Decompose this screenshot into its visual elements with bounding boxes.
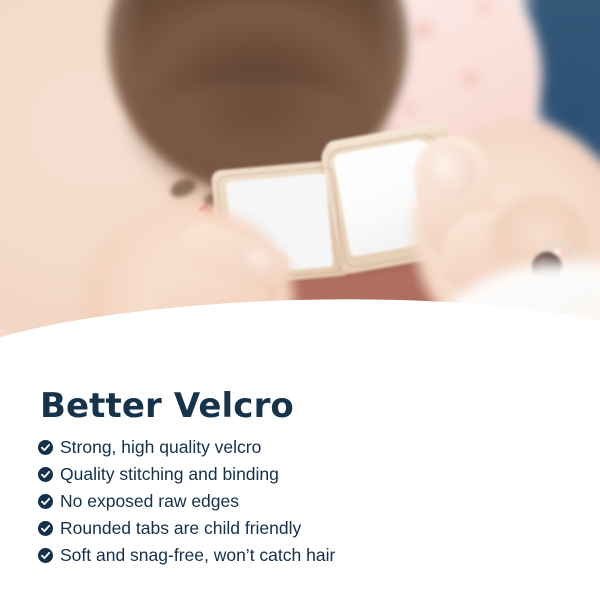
feature-label: Strong, high quality velcro [60,439,261,457]
feature-label: No exposed raw edges [60,493,239,511]
ring-highlight [552,246,563,257]
check-circle-icon [38,440,53,455]
check-circle-icon [38,548,53,563]
feature-label: Rounded tabs are child friendly [60,520,301,538]
feature-list: Strong, high quality velcro Quality stit… [38,434,335,569]
product-feature-card: Better Velcro Strong, high quality velcr… [0,0,600,600]
list-item: Soft and snag-free, won’t catch hair [38,542,335,569]
feature-panel: Better Velcro Strong, high quality velcr… [0,372,600,600]
list-item: No exposed raw edges [38,488,335,515]
check-circle-icon [38,494,53,509]
feature-label: Quality stitching and binding [60,466,279,484]
check-circle-icon [38,467,53,482]
list-item: Quality stitching and binding [38,461,335,488]
page-title: Better Velcro [40,386,294,426]
feature-label: Soft and snag-free, won’t catch hair [60,547,335,565]
list-item: Strong, high quality velcro [38,434,335,461]
list-item: Rounded tabs are child friendly [38,515,335,542]
check-circle-icon [38,521,53,536]
